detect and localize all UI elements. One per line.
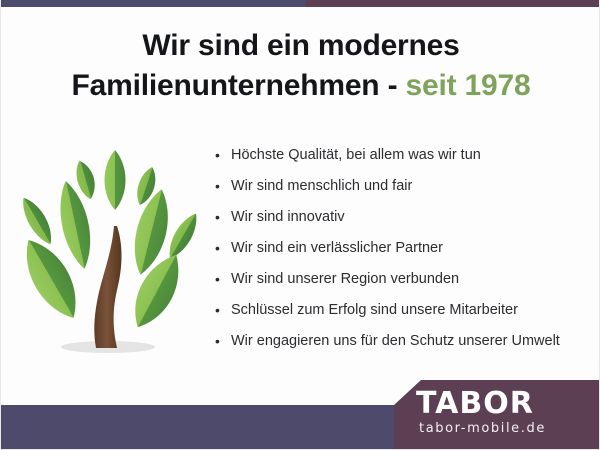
page-title: Wir sind ein modernes Familienunternehme…: [1, 26, 600, 105]
headline-line-2: Familienunternehmen - seit 1978: [1, 66, 600, 106]
tree-leaf: [16, 193, 58, 248]
list-item: Wir sind ein verlässlicher Partner: [211, 233, 596, 264]
tree-illustration: [13, 142, 203, 370]
tree-illustration-svg: [13, 142, 203, 370]
top-accent-bar: [1, 0, 600, 7]
list-item: Wir sind menschlich und fair: [211, 171, 596, 202]
list-item: Wir sind innovativ: [211, 202, 596, 233]
top-accent-bar-right: [306, 0, 600, 7]
tree-leaf: [105, 150, 126, 210]
tree-trunk: [94, 226, 121, 348]
tree-leaf: [123, 247, 191, 335]
list-item: Höchste Qualität, bei allem was wir tun: [211, 140, 596, 171]
headline-line-1: Wir sind ein modernes: [1, 26, 600, 66]
tree-leaf: [163, 209, 203, 262]
top-accent-bar-left: [1, 0, 306, 7]
list-item: Wir sind unserer Region verbunden: [211, 264, 596, 295]
slide-canvas: Wir sind ein modernes Familienunternehme…: [0, 0, 600, 450]
brand-tagline: tabor-mobile.de: [419, 421, 546, 436]
headline-accent-year: seit 1978: [406, 69, 531, 102]
list-item: Wir engagieren uns für den Schutz unsere…: [211, 326, 596, 357]
brand-logo[interactable]: TABOR tabor-mobile.de: [394, 380, 599, 449]
headline-line-2-plain: Familienunternehmen -: [72, 69, 406, 102]
list-item: Schlüssel zum Erfolg sind unsere Mitarbe…: [211, 295, 596, 326]
benefits-list: Höchste Qualität, bei allem was wir tun …: [211, 140, 596, 357]
brand-wordmark: TABOR: [416, 386, 534, 421]
